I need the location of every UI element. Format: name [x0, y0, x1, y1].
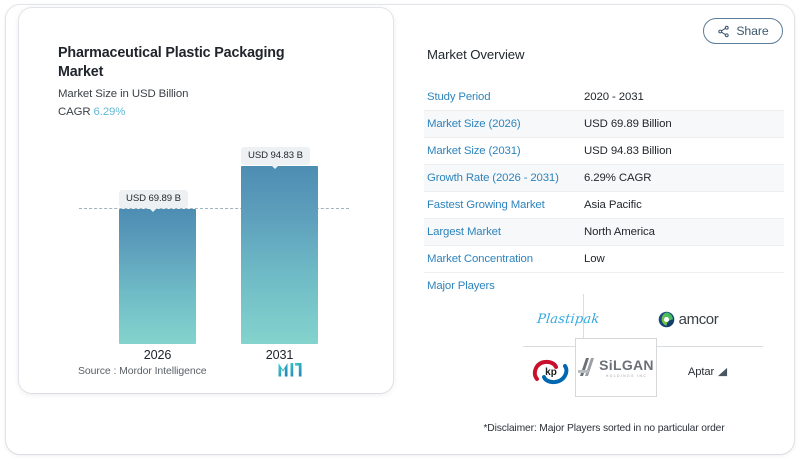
aptar-wordmark: Aptar: [688, 366, 714, 378]
silgan-mark-icon: [578, 358, 595, 377]
row-value: USD 94.83 Billion: [584, 145, 672, 157]
table-row: Largest Market North America: [424, 219, 784, 246]
amcor-wordmark: amcor: [679, 311, 719, 328]
row-value: USD 69.89 Billion: [584, 118, 672, 130]
kp-wordmark: kp: [545, 367, 557, 378]
silgan-sub-wordmark: HOLDINGS INC: [599, 374, 654, 378]
logo-amcor: amcor: [633, 298, 743, 340]
major-players-label: Major Players: [424, 280, 584, 292]
table-row: Growth Rate (2026 - 2031) 6.29% CAGR: [424, 165, 784, 192]
plastipak-wordmark: Plastipak: [536, 312, 600, 327]
share-button[interactable]: Share: [703, 18, 783, 44]
row-key: Market Size (2031): [424, 145, 584, 157]
bar-2026[interactable]: [119, 209, 196, 344]
row-value: Low: [584, 253, 605, 265]
amcor-mark-icon: [658, 311, 675, 328]
source-label: Source : Mordor Intelligence: [78, 365, 207, 377]
major-players-logo-grid: Plastipak amcor: [523, 294, 763, 397]
row-key: Market Concentration: [424, 253, 584, 265]
row-key: Growth Rate (2026 - 2031): [424, 172, 584, 184]
infographic-root: Share Pharmaceutical Plastic Packaging M…: [0, 0, 800, 459]
silgan-wordmark: SiLGAN: [599, 357, 654, 373]
share-nodes-icon: [717, 25, 730, 38]
bar-chart-plot: USD 69.89 B USD 94.83 B 2026 2031: [19, 8, 393, 393]
row-key: Largest Market: [424, 226, 584, 238]
table-row: Fastest Growing Market Asia Pacific: [424, 192, 784, 219]
table-row: Market Concentration Low: [424, 246, 784, 273]
logo-aptar: Aptar: [663, 352, 753, 392]
row-key: Study Period: [424, 91, 584, 103]
row-value: Asia Pacific: [584, 199, 642, 211]
row-key: Market Size (2026): [424, 118, 584, 130]
table-row: Study Period 2020 - 2031: [424, 84, 784, 111]
bar-label-2026: USD 69.89 B: [119, 190, 188, 208]
logo-silgan: SiLGAN HOLDINGS INC: [575, 338, 657, 397]
mordor-intelligence-logo: [278, 362, 302, 377]
row-value: North America: [584, 226, 655, 238]
bar-label-2031: USD 94.83 B: [241, 147, 310, 165]
aptar-triangle-icon: [717, 367, 728, 378]
row-value: 2020 - 2031: [584, 91, 644, 103]
market-overview-heading: Market Overview: [427, 47, 524, 62]
table-row: Market Size (2026) USD 69.89 Billion: [424, 111, 784, 138]
row-key: Fastest Growing Market: [424, 199, 584, 211]
x-axis-tick-2026: 2026: [119, 348, 196, 362]
bar-2031[interactable]: [241, 166, 318, 344]
x-axis-tick-2031: 2031: [241, 348, 318, 362]
row-value: 6.29% CAGR: [584, 172, 651, 184]
logo-plastipak: Plastipak: [513, 298, 623, 340]
disclaimer-text: *Disclaimer: Major Players sorted in no …: [424, 423, 784, 434]
share-button-label: Share: [736, 24, 768, 38]
market-overview-table: Study Period 2020 - 2031 Market Size (20…: [424, 84, 784, 299]
table-row: Market Size (2031) USD 94.83 Billion: [424, 138, 784, 165]
